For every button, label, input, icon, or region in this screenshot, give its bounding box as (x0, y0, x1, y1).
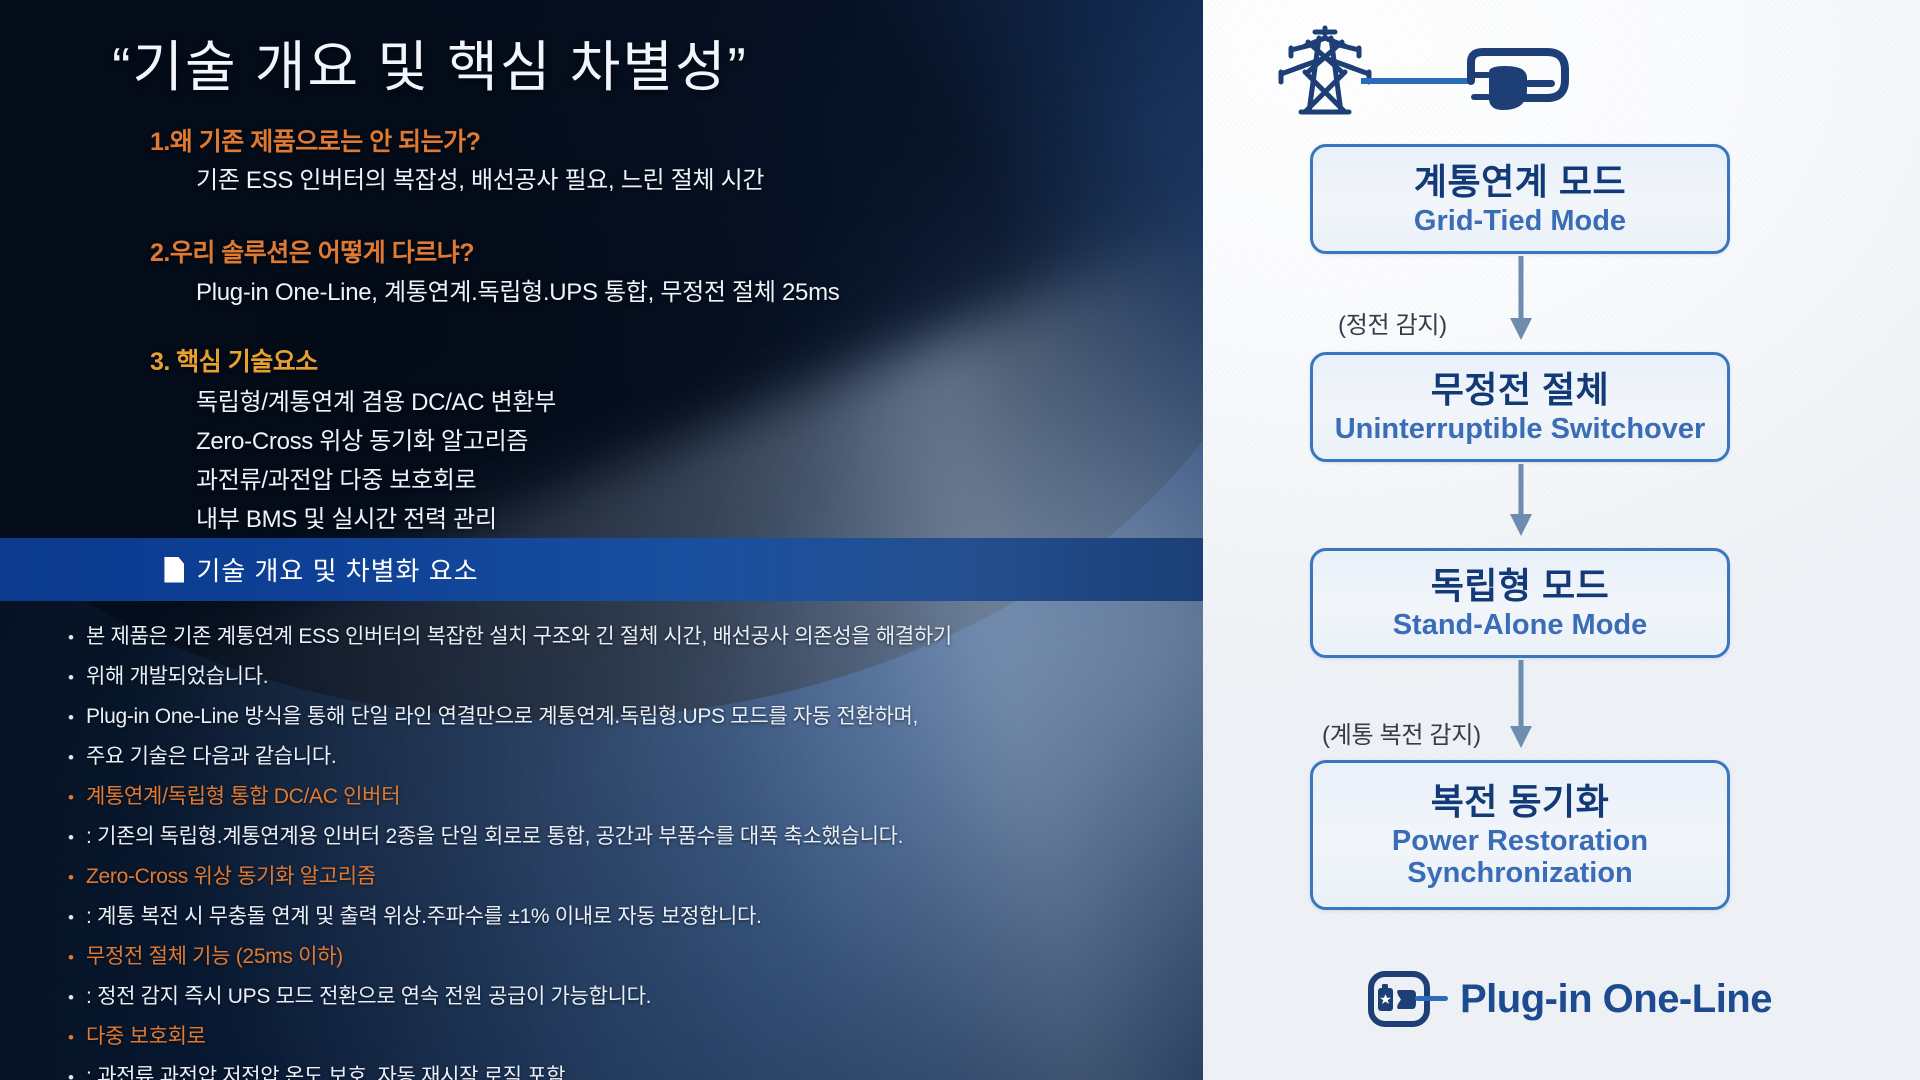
flow-box-grid-tied[interactable]: 계통연계 모드 Grid-Tied Mode (1310, 144, 1730, 254)
flow-box-label-ko: 계통연계 모드 (1414, 161, 1626, 202)
bullet-item: •본 제품은 기존 계통연계 ESS 인버터의 복잡한 설치 구조와 긴 절체 … (68, 620, 1178, 660)
core-tech-item: Zero-Cross 위상 동기화 알고리즘 (196, 421, 528, 456)
flow-box-label-ko: 무정전 절체 (1431, 369, 1610, 410)
bullet-dot-icon: • (68, 869, 86, 886)
plug-in-battery-icon (1368, 970, 1450, 1028)
bullet-item: •: 계통 복전 시 무충돌 연계 및 출력 위상.주파수를 ±1% 이내로 자… (68, 900, 1178, 940)
section-body-1: 기존 ESS 인버터의 복잡성, 배선공사 필요, 느린 절체 시간 (196, 160, 764, 195)
bullet-dot-icon: • (68, 989, 86, 1006)
core-tech-item: 과전류/과전압 다중 보호회로 (196, 460, 476, 495)
bullet-dot-icon: • (68, 669, 86, 686)
bullet-item: •계통연계/독립형 통합 DC/AC 인버터 (68, 780, 1178, 820)
flow-box-label-ko: 독립형 모드 (1431, 565, 1610, 606)
core-tech-heading: 3. 핵심 기술요소 (150, 342, 318, 378)
flow-arrow-1 (1508, 256, 1534, 348)
page-title: “기술 개요 및 핵심 차별성” (0, 22, 860, 102)
bullet-item: •주요 기술은 다음과 같습니다. (68, 740, 1178, 780)
bullet-item: •위해 개발되었습니다. (68, 660, 1178, 700)
bullet-text: 위해 개발되었습니다. (86, 660, 268, 690)
bullet-dot-icon: • (68, 949, 86, 966)
section-banner: 기술 개요 및 차별화 요소 (0, 538, 1203, 601)
flow-box-label-en: Power RestorationSynchronization (1392, 825, 1648, 890)
bullet-list: •본 제품은 기존 계통연계 ESS 인버터의 복잡한 설치 구조와 긴 절체 … (68, 620, 1178, 1080)
slide-root: “기술 개요 및 핵심 차별성” 1.왜 기존 제품으로는 안 되는가? 기존 … (0, 0, 1920, 1080)
bullet-text: : 기존의 독립형.계통연계용 인버터 2종을 단일 회로로 통합, 공간과 부… (86, 820, 903, 850)
flow-box-stand-alone[interactable]: 독립형 모드 Stand-Alone Mode (1310, 548, 1730, 658)
bullet-dot-icon: • (68, 909, 86, 926)
bullet-item: •: 기존의 독립형.계통연계용 인버터 2종을 단일 회로로 통합, 공간과 … (68, 820, 1178, 860)
document-icon (164, 557, 184, 583)
left-panel: “기술 개요 및 핵심 차별성” 1.왜 기존 제품으로는 안 되는가? 기존 … (0, 0, 1203, 1080)
transmission-tower-icon (1281, 28, 1369, 112)
down-arrow-icon (1508, 660, 1534, 756)
bullet-text: Plug-in One-Line 방식을 통해 단일 라인 연결만으로 계통연계… (86, 700, 918, 730)
bullet-item: •: 과전류.과전압.저전압.온도 보호, 자동 재시작 로직 포함. (68, 1060, 1178, 1080)
product-logo: Plug-in One-Line (1368, 970, 1772, 1028)
flow-arrow-2 (1508, 464, 1534, 544)
flow-box-label-en: Grid-Tied Mode (1414, 205, 1626, 237)
flow-box-label-ko: 복전 동기화 (1431, 781, 1610, 822)
bullet-dot-icon: • (68, 829, 86, 846)
section-heading-1: 1.왜 기존 제품으로는 안 되는가? (150, 122, 480, 158)
flow-box-label-en: Stand-Alone Mode (1393, 609, 1648, 641)
bullet-text: : 과전류.과전압.저전압.온도 보호, 자동 재시작 로직 포함. (86, 1060, 571, 1080)
bullet-text: : 정전 감지 즉시 UPS 모드 전환으로 연속 전원 공급이 가능합니다. (86, 980, 651, 1010)
bullet-item: •무정전 절체 기능 (25ms 이하) (68, 940, 1178, 980)
flow-box-label-en: Uninterruptible Switchover (1335, 413, 1706, 445)
flow-box-uninterruptible-switchover[interactable]: 무정전 절체 Uninterruptible Switchover (1310, 352, 1730, 462)
left-content: “기술 개요 및 핵심 차별성” 1.왜 기존 제품으로는 안 되는가? 기존 … (0, 0, 1203, 1080)
power-plug-icon (1471, 52, 1565, 110)
grid-connection-illustration (1275, 20, 1695, 120)
bullet-item: •Plug-in One-Line 방식을 통해 단일 라인 연결만으로 계통연… (68, 700, 1178, 740)
bullet-dot-icon: • (68, 1069, 86, 1080)
flow-arrow-3 (1508, 660, 1534, 756)
core-tech-item: 독립형/계통연계 겸용 DC/AC 변환부 (196, 382, 556, 417)
bullet-text: 주요 기술은 다음과 같습니다. (86, 740, 336, 770)
section-banner-label: 기술 개요 및 차별화 요소 (196, 551, 478, 588)
arrow-label-outage-detect: (정전 감지) (1338, 305, 1447, 340)
bullet-text: Zero-Cross 위상 동기화 알고리즘 (86, 860, 376, 890)
bullet-text: 계통연계/독립형 통합 DC/AC 인버터 (86, 780, 400, 810)
bullet-dot-icon: • (68, 789, 86, 806)
bullet-text: : 계통 복전 시 무충돌 연계 및 출력 위상.주파수를 ±1% 이내로 자동… (86, 900, 762, 930)
down-arrow-icon (1508, 256, 1534, 348)
product-logo-text: Plug-in One-Line (1460, 977, 1772, 1022)
bullet-dot-icon: • (68, 709, 86, 726)
bullet-dot-icon: • (68, 629, 86, 646)
section-heading-2: 2.우리 솔루션은 어떻게 다르냐? (150, 233, 474, 269)
grid-connection-svg (1275, 20, 1695, 120)
bullet-text: 다중 보호회로 (86, 1020, 206, 1050)
flow-box-power-restoration[interactable]: 복전 동기화 Power RestorationSynchronization (1310, 760, 1730, 910)
bullet-item: •: 정전 감지 즉시 UPS 모드 전환으로 연속 전원 공급이 가능합니다. (68, 980, 1178, 1020)
down-arrow-icon (1508, 464, 1534, 544)
bullet-text: 무정전 절체 기능 (25ms 이하) (86, 940, 343, 970)
bullet-item: •다중 보호회로 (68, 1020, 1178, 1060)
bullet-dot-icon: • (68, 749, 86, 766)
core-tech-item: 내부 BMS 및 실시간 전력 관리 (196, 499, 497, 534)
bullet-item: •Zero-Cross 위상 동기화 알고리즘 (68, 860, 1178, 900)
arrow-label-restoration-detect: (계통 복전 감지) (1322, 715, 1481, 750)
bullet-text: 본 제품은 기존 계통연계 ESS 인버터의 복잡한 설치 구조와 긴 절체 시… (86, 620, 952, 650)
section-banner-inner: 기술 개요 및 차별화 요소 (164, 551, 478, 588)
bullet-dot-icon: • (68, 1029, 86, 1046)
section-body-2: Plug-in One-Line, 계통연계.독립형.UPS 통합, 무정전 절… (196, 272, 839, 307)
